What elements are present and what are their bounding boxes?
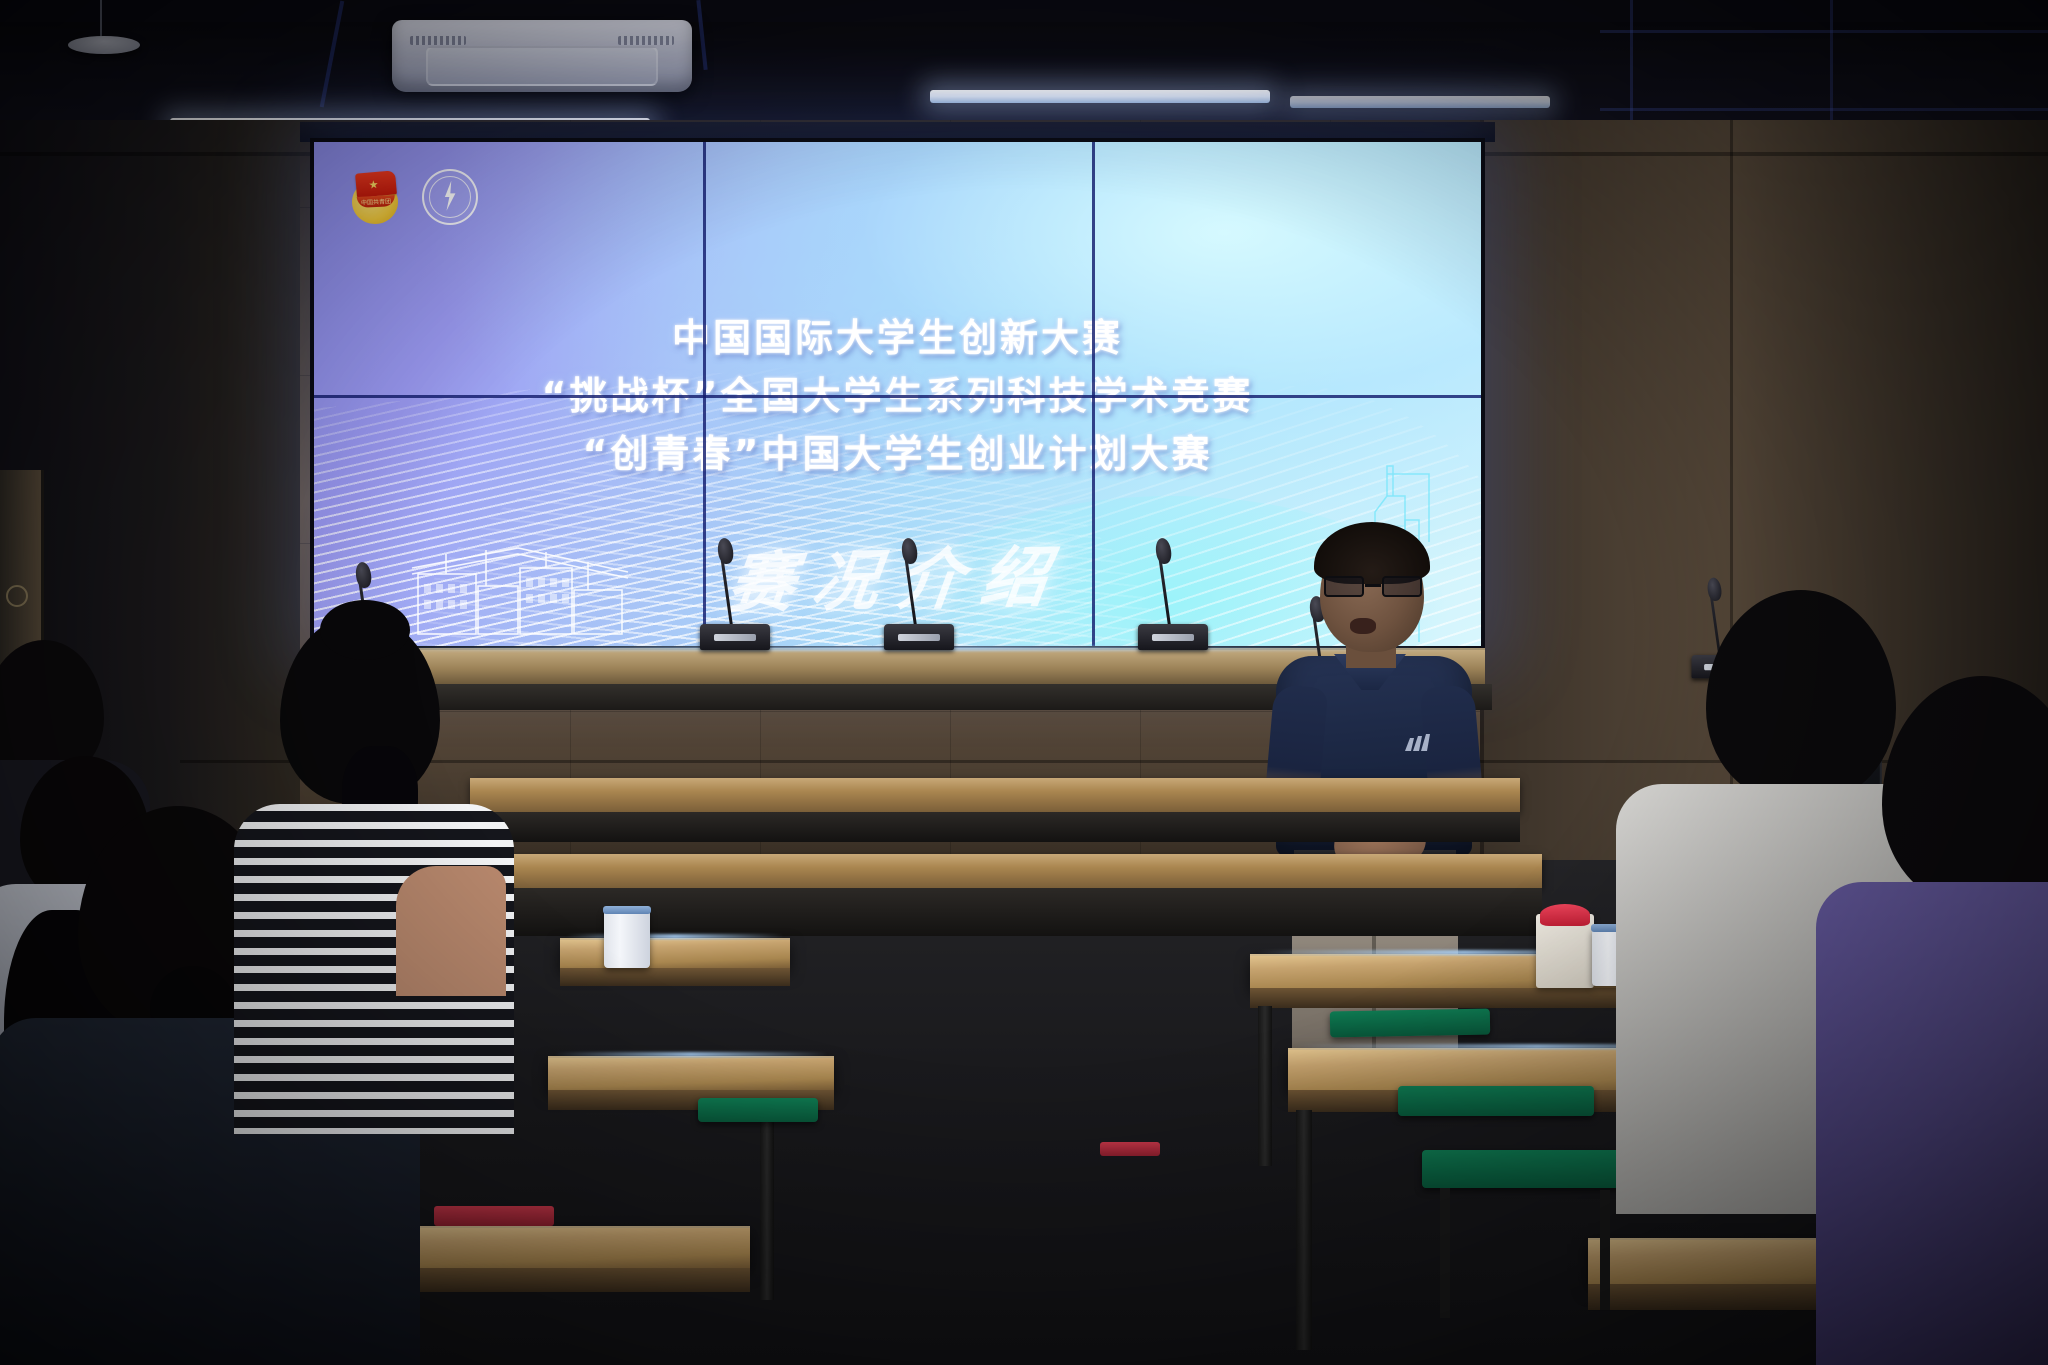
chair-red-left[interactable] (434, 1206, 554, 1226)
ceiling-light-tube (930, 90, 1270, 103)
chair-green-back-2[interactable] (1398, 1086, 1594, 1116)
mic-led (1152, 634, 1194, 641)
star-icon (369, 180, 379, 190)
mic-head-icon (716, 537, 734, 565)
gooseneck-microphone-3[interactable] (884, 538, 954, 650)
slide-title-block: 中国国际大学生创新大赛 “挑战杯”全国大学生系列科技学术竞赛 “创青春”中国大学… (314, 310, 1481, 483)
chair-leg (1440, 1188, 1450, 1318)
bench-back-shadow (470, 812, 1520, 842)
table-left-back (560, 938, 790, 968)
table-leg (1258, 1006, 1272, 1166)
ac-vent-slats (618, 36, 674, 45)
bench-row-mid (452, 854, 1542, 888)
chair-leg (1600, 1190, 1610, 1310)
slide-title-line-3: “创青春”中国大学生创业计划大赛 (314, 426, 1481, 484)
attendee-head (1882, 676, 2048, 906)
bench-leg (1150, 812, 1172, 842)
bench-leg (1040, 812, 1062, 842)
chair-red-mid[interactable] (1100, 1142, 1160, 1156)
lightning-bolt-icon (442, 181, 458, 211)
presenter-mouth (1350, 618, 1376, 634)
attendee-purple-shirt (1856, 676, 2048, 1365)
door-handle-icon[interactable] (6, 585, 28, 607)
ceiling-grid-line (1600, 30, 2048, 33)
ac-vent-slats (410, 36, 466, 45)
glasses-icon (1324, 576, 1422, 598)
glasses-lens-left (1324, 576, 1364, 597)
slide-title-line-2: “挑战杯”全国大学生系列科技学术竞赛 (314, 368, 1481, 426)
glasses-lens-right (1382, 576, 1422, 597)
air-conditioner-unit (392, 20, 692, 92)
university-seal-logo-icon (422, 169, 478, 225)
ac-vent-panel (426, 46, 658, 86)
slide-title-line-1: 中国国际大学生创新大赛 (314, 310, 1481, 368)
table-glow (566, 934, 784, 939)
ceiling-panel (0, 0, 2048, 22)
attendee-striped-shirt (246, 614, 496, 1174)
table-left-front-edge (420, 1268, 750, 1292)
table-leg (1296, 1110, 1312, 1350)
mic-head-icon (354, 561, 372, 589)
presenter-hair (1314, 522, 1430, 584)
mic-base (884, 624, 954, 650)
communist-youth-league-emblem-icon: 中国共青团 (348, 168, 406, 226)
ceiling-grid-line (1600, 108, 2048, 111)
adidas-logo-icon (1404, 734, 1430, 751)
chair-green-back-3[interactable] (1422, 1150, 1642, 1188)
mic-base (1138, 624, 1208, 650)
glasses-bridge (1365, 584, 1381, 587)
table-leg (760, 1110, 774, 1300)
table-left-mid (548, 1056, 834, 1090)
gooseneck-microphone-4[interactable] (1138, 538, 1208, 650)
mic-base (700, 624, 770, 650)
gift-bag[interactable] (1536, 914, 1594, 988)
table-left-front (420, 1226, 750, 1268)
bench-row-back (470, 778, 1520, 812)
presentation-room-photo: 中国共青团 中国国际大学生创新大赛 “挑战杯”全国大学生系列科技学术竞赛 “创青… (0, 0, 2048, 1365)
attendee-body (1816, 882, 2048, 1365)
mic-led (898, 634, 940, 641)
gooseneck-microphone-2[interactable] (700, 538, 770, 650)
slide-logo-group: 中国共青团 (348, 168, 478, 226)
gift-ribbon (1540, 904, 1590, 926)
table-glow (554, 1052, 828, 1057)
mic-head-icon (1154, 537, 1172, 565)
emblem-flag (355, 170, 397, 197)
attendee-arm (396, 866, 506, 996)
ceiling-light-tube (1290, 96, 1550, 108)
tin-label (610, 926, 644, 946)
tea-tin-left[interactable] (604, 910, 650, 968)
table-left-back-edge (560, 968, 790, 986)
chair-green-back-1[interactable] (1330, 1009, 1490, 1038)
ceiling-speaker-rod (100, 0, 102, 38)
chair-green-left[interactable] (698, 1098, 818, 1122)
attendee-hair-bun (320, 600, 410, 660)
tin-lid (603, 906, 651, 914)
ceiling-speaker-icon (68, 36, 140, 54)
mic-led (714, 634, 756, 641)
mic-head-icon (900, 537, 918, 565)
